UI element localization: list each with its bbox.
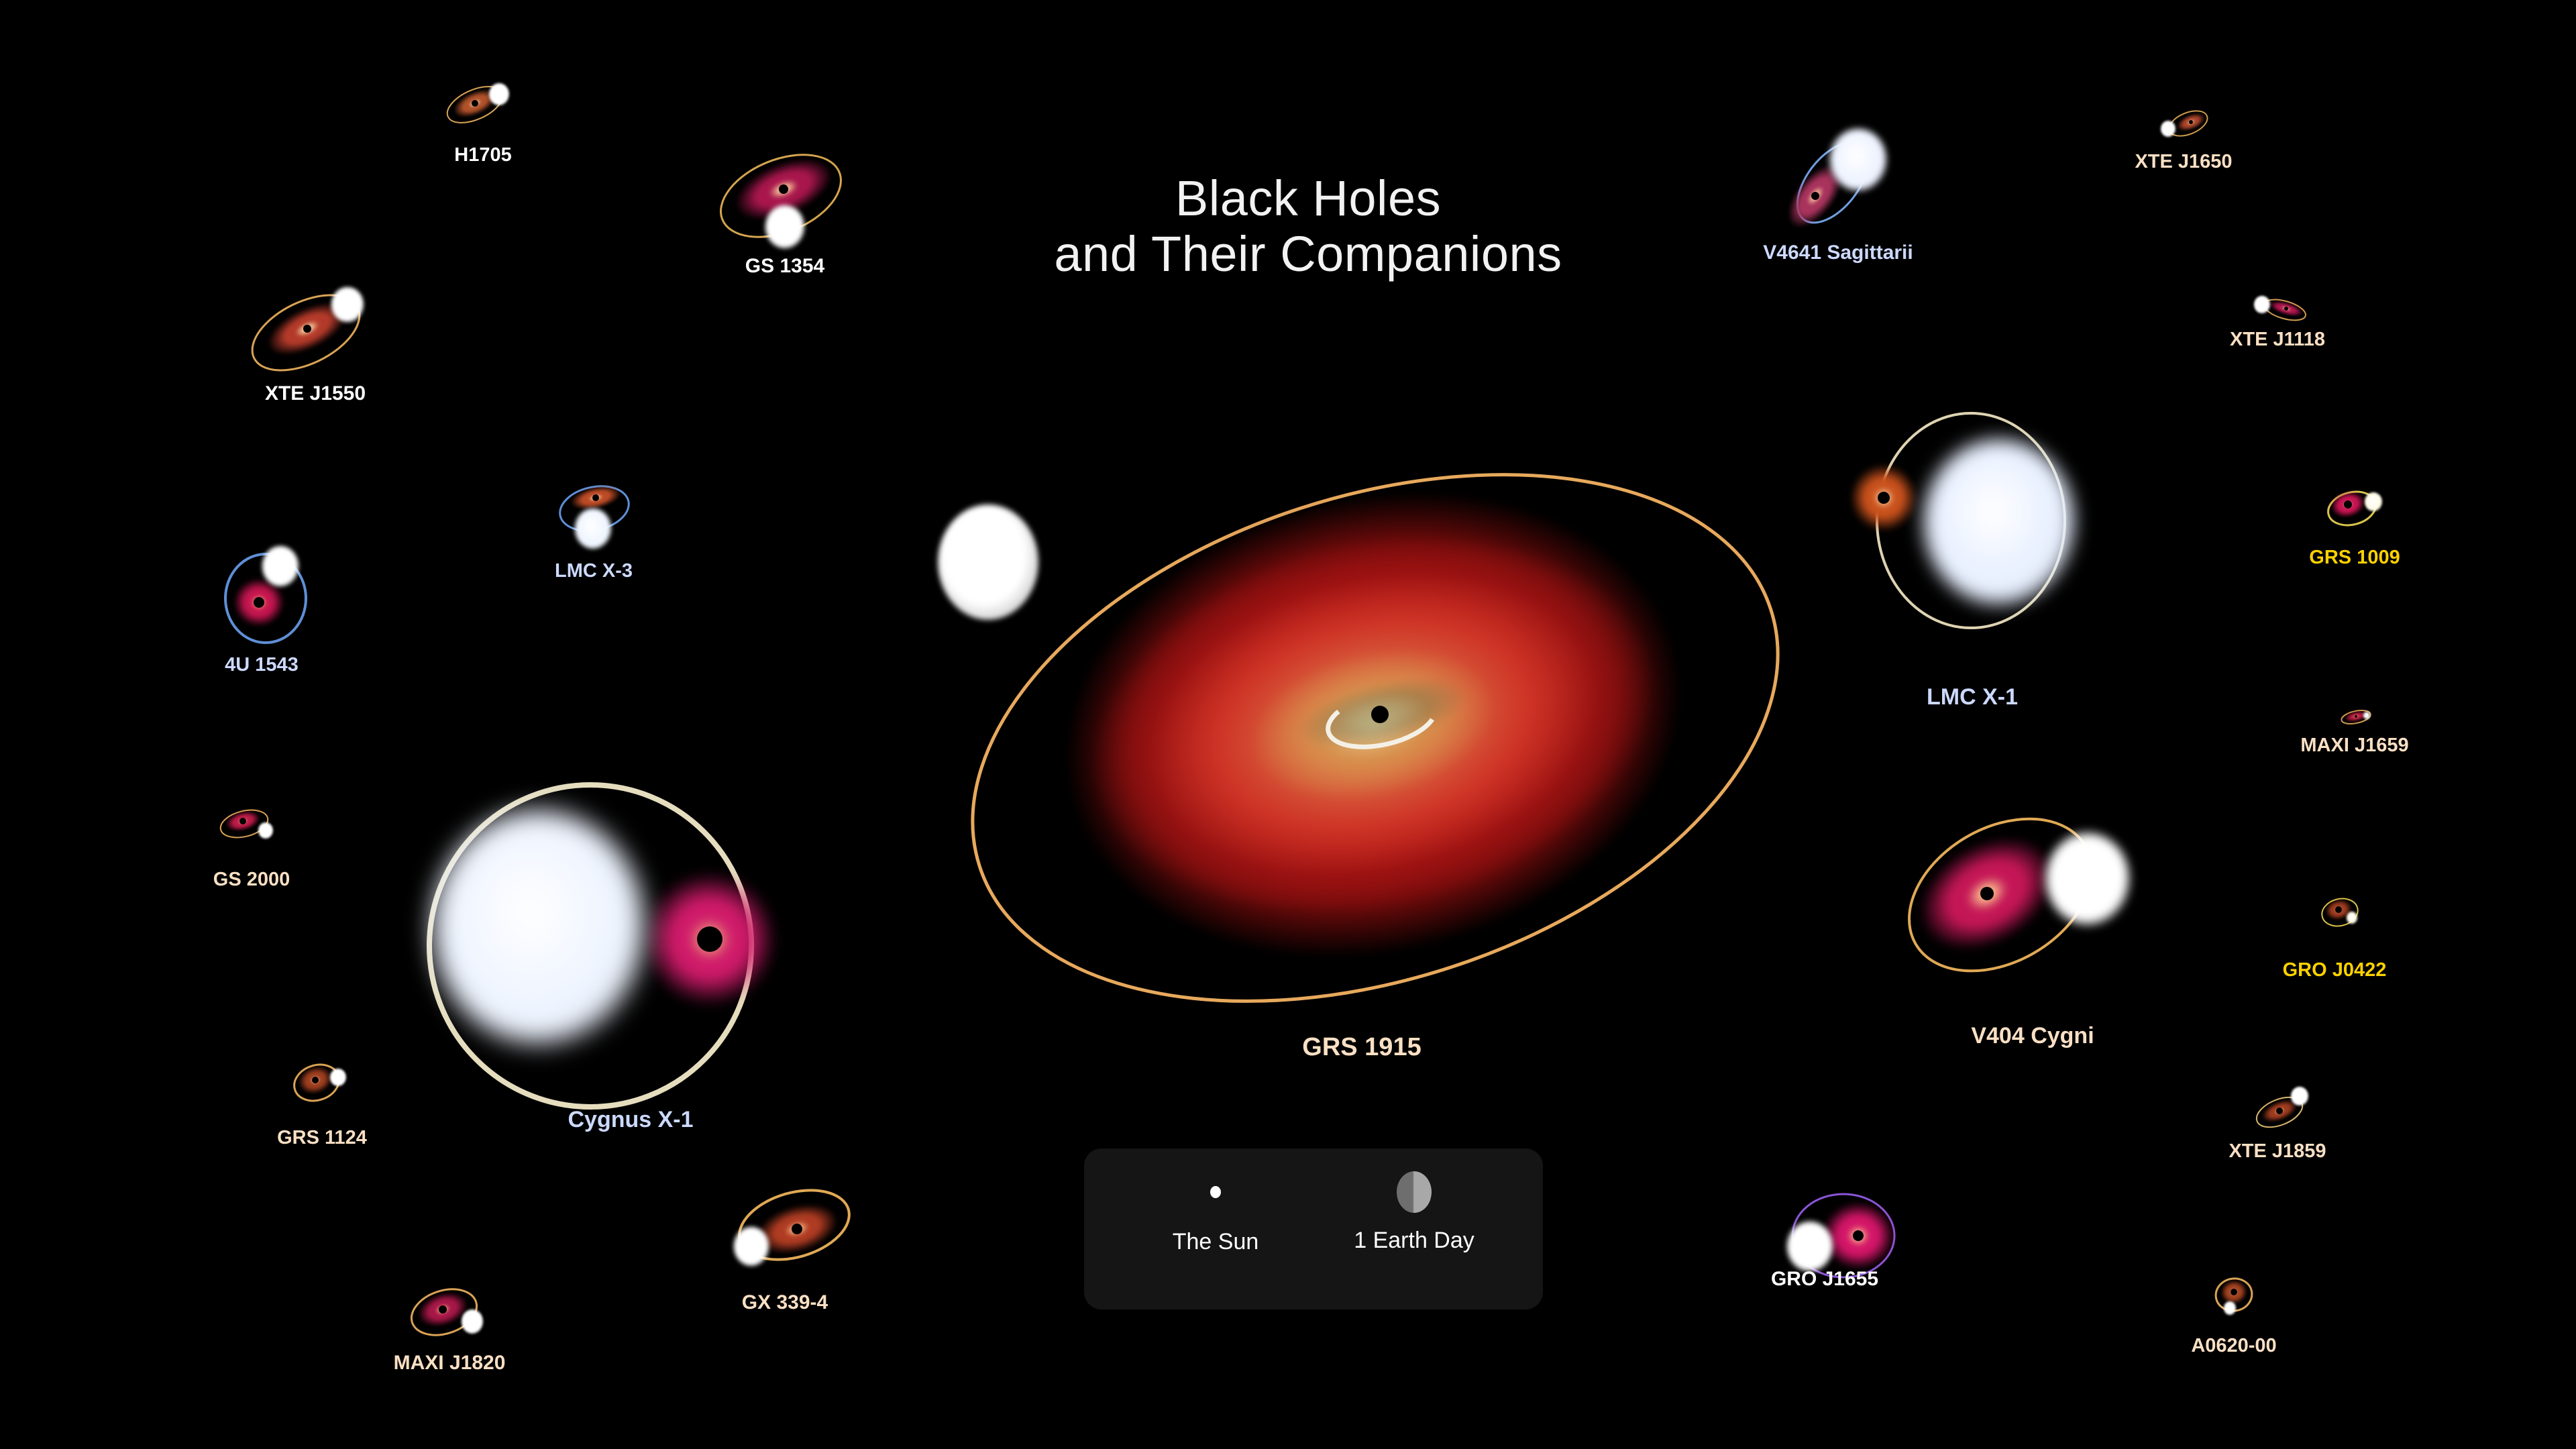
system-lmcx1[interactable]: LMC X-1	[1831, 402, 2113, 704]
system-groj0422[interactable]: GRO J0422	[2281, 879, 2388, 1013]
companion-star-icon	[330, 1069, 346, 1086]
system-xtej1650[interactable]: XTE J1650	[2140, 94, 2227, 228]
companion-star-icon	[462, 1309, 483, 1333]
system-lmcx3[interactable]: LMC X-3	[537, 470, 651, 624]
system-v4641sagittarii[interactable]: V4641 Sagittarii	[1758, 114, 1919, 302]
black-hole-icon	[2355, 715, 2357, 718]
system-label: V404 Cygni	[1971, 1023, 2094, 1049]
legend-item-sun: The Sun	[1148, 1186, 1283, 1255]
system-label: LMC X-1	[1927, 684, 2018, 710]
black-hole-icon	[2276, 1108, 2283, 1114]
black-hole-icon	[592, 494, 599, 501]
system-maxij1659[interactable]: MAXI J1659	[2294, 684, 2415, 818]
companion-star-icon	[258, 822, 273, 839]
system-label: GRS 1915	[1302, 1033, 1421, 1062]
system-grs1124[interactable]: GRS 1124	[268, 1046, 376, 1194]
companion-star-icon	[2161, 121, 2176, 137]
sun-dot-icon	[1210, 1186, 1221, 1198]
system-groj1655[interactable]: GRO J1655	[1724, 1181, 1925, 1375]
system-gx339-4[interactable]: GX 339-4	[711, 1167, 859, 1348]
black-hole-icon	[697, 926, 722, 952]
companion-star-icon	[1830, 129, 1886, 191]
system-cygnusx1[interactable]: Cygnus X-1	[396, 745, 865, 1207]
black-hole-icon	[439, 1305, 447, 1313]
black-hole-icon	[1853, 1230, 1864, 1241]
system-a0620-00[interactable]: A0620-00	[2167, 1261, 2301, 1409]
companion-star-icon	[2046, 833, 2129, 924]
system-label: XTE J1650	[2135, 151, 2232, 173]
system-h1705[interactable]: H1705	[443, 74, 523, 208]
companion-star-icon	[2291, 1087, 2308, 1106]
system-label: GS 1354	[745, 255, 824, 278]
system-label: GS 2000	[213, 869, 290, 891]
black-hole-icon	[2344, 500, 2352, 508]
earth-day-icon	[1397, 1171, 1432, 1213]
companion-star-icon	[2365, 492, 2382, 512]
black-hole-icon	[1878, 492, 1890, 504]
legend-item-earth-day: 1 Earth Day	[1334, 1171, 1495, 1254]
system-xtej1118[interactable]: XTE J1118	[2220, 275, 2334, 409]
black-hole-icon	[312, 1077, 319, 1083]
system-xtej1859[interactable]: XTE J1859	[2220, 1067, 2334, 1214]
system-maxij1820[interactable]: MAXI J1820	[376, 1268, 523, 1436]
system-label: Cygnus X-1	[568, 1107, 693, 1133]
system-v404cygni[interactable]: V404 Cygni	[1885, 812, 2180, 1114]
companion-star-icon	[2363, 712, 2370, 719]
black-hole-icon	[2284, 307, 2288, 311]
system-label: A0620-00	[2191, 1335, 2276, 1357]
companion-star-icon	[1924, 439, 2074, 604]
companion-star-icon	[2254, 296, 2270, 313]
inner-orbit-arc-icon	[1308, 671, 1456, 778]
companion-star-icon	[765, 205, 804, 248]
companion-star-icon	[2224, 1301, 2236, 1315]
system-label: XTE J1118	[2230, 329, 2325, 351]
system-gs2000[interactable]: GS 2000	[201, 792, 302, 932]
companion-star-icon	[734, 1227, 769, 1265]
system-label: GX 339-4	[742, 1291, 828, 1314]
black-hole-icon	[239, 818, 246, 824]
system-label: H1705	[454, 144, 511, 166]
system-label: MAXI J1659	[2300, 735, 2408, 757]
system-grs1009[interactable]: GRS 1009	[2308, 476, 2402, 610]
system-label: GRO J0422	[2283, 959, 2387, 981]
black-hole-icon	[779, 184, 788, 194]
system-label: MAXI J1820	[394, 1352, 506, 1375]
black-hole-icon	[1371, 706, 1389, 723]
system-xtej1550[interactable]: XTE J1550	[241, 268, 389, 449]
black-hole-icon	[2231, 1289, 2237, 1295]
legend-label-earth-day: 1 Earth Day	[1334, 1228, 1495, 1254]
companion-star-icon	[2347, 912, 2357, 924]
scale-legend: The Sun 1 Earth Day	[1084, 1148, 1543, 1309]
legend-label-sun: The Sun	[1148, 1229, 1283, 1255]
system-label: GRO J1655	[1771, 1268, 1878, 1291]
system-label: LMC X-3	[555, 560, 633, 582]
system-grs1915[interactable]: GRS 1915	[906, 470, 1818, 1107]
system-label: GRS 1009	[2309, 547, 2400, 569]
system-label: XTE J1550	[265, 382, 366, 405]
companion-star-icon	[489, 83, 509, 105]
page-title: Black Holes and Their Companions	[1033, 171, 1583, 282]
companion-star-icon	[331, 287, 364, 323]
system-4u1543[interactable]: 4U 1543	[195, 523, 329, 718]
system-label: GRS 1124	[277, 1127, 367, 1149]
companion-star-icon	[1787, 1222, 1833, 1272]
black-hole-icon	[1980, 887, 1994, 900]
companion-star-icon	[433, 810, 645, 1044]
system-label: XTE J1859	[2229, 1140, 2326, 1163]
system-label: V4641 Sagittarii	[1763, 241, 1913, 264]
system-gs1354[interactable]: GS 1354	[711, 134, 859, 329]
black-hole-icon	[792, 1224, 802, 1234]
companion-star-icon	[938, 504, 1038, 620]
black-hole-icon	[2335, 906, 2342, 913]
system-label: 4U 1543	[225, 654, 299, 676]
black-hole-icon	[2189, 120, 2193, 124]
infographic-canvas: Black Holes and Their Companions GRS 191…	[0, 0, 2576, 1449]
companion-star-icon	[575, 508, 611, 548]
companion-star-icon	[262, 546, 299, 586]
black-hole-icon	[1811, 192, 1819, 200]
black-hole-icon	[303, 325, 311, 333]
orbit-ellipse-icon	[201, 792, 302, 872]
black-hole-icon	[254, 597, 264, 608]
black-hole-icon	[472, 100, 478, 107]
